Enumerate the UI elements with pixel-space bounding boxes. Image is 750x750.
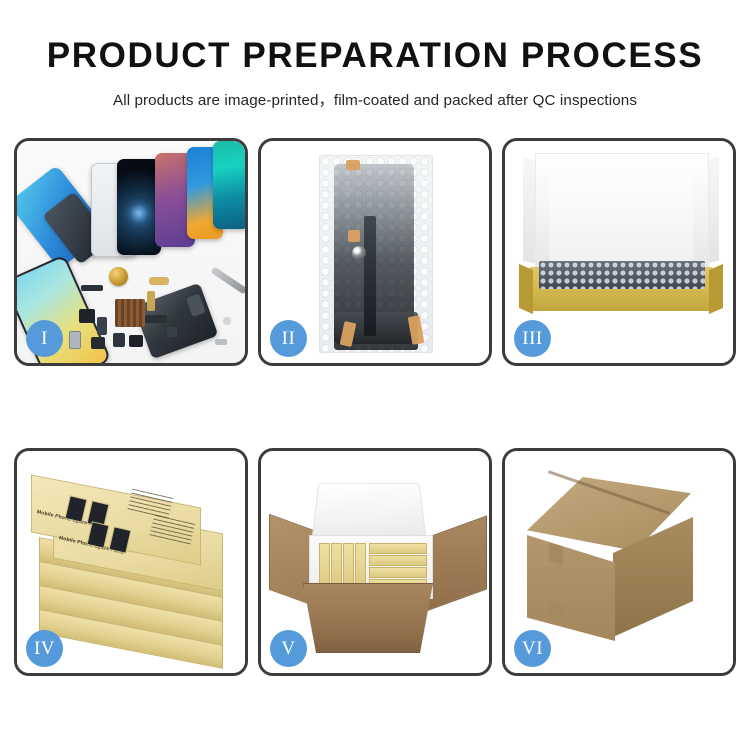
bubble-wrap-bag (319, 155, 433, 353)
step-badge-2: II (270, 320, 307, 357)
yellow-box (369, 567, 427, 578)
part-fragment (129, 335, 143, 347)
flex-cable-part (147, 291, 155, 311)
teal-gradient-phone (213, 141, 245, 229)
yellow-boxes-right-group (369, 543, 425, 589)
screw-part (223, 317, 231, 325)
process-step-grid: I II (14, 138, 736, 690)
page-title: PRODUCT PREPARATION PROCESS (0, 38, 750, 75)
header: PRODUCT PREPARATION PROCESS All products… (0, 0, 750, 110)
yellow-box (369, 555, 427, 566)
carton-tape-patch (549, 601, 563, 623)
process-step-2: II (258, 138, 492, 366)
tape-piece (346, 160, 360, 170)
part-fragment (91, 337, 105, 349)
part-fragment (167, 327, 177, 337)
part-fragment (97, 317, 107, 335)
part-fragment (79, 309, 95, 323)
part-fragment (81, 285, 103, 291)
step-badge-6: VI (514, 630, 551, 667)
speaker-coil-part (109, 267, 128, 286)
process-step-5: V (258, 448, 492, 676)
step-badge-5: V (270, 630, 307, 667)
yellow-box (369, 543, 427, 554)
part-fragment (145, 315, 167, 323)
foam-liner (549, 177, 693, 271)
step-badge-1: I (26, 320, 63, 357)
process-step-4: Mobile Phone Spare Parts Mobile Phone Sp… (14, 448, 248, 676)
process-step-6: VI (502, 448, 736, 676)
process-step-1: I (14, 138, 248, 366)
page-subtitle: All products are image-printed，film-coat… (0, 88, 750, 110)
process-step-3: III (502, 138, 736, 366)
flex-cable (364, 216, 376, 336)
carton-body (303, 583, 433, 653)
screw-part (215, 339, 227, 345)
connector-chip-grid (115, 299, 145, 327)
yellow-boxes-left-group (319, 543, 365, 589)
repair-tool (210, 266, 245, 294)
camera-lens (352, 246, 366, 260)
foam-box-lid (311, 483, 427, 543)
step-badge-3: III (514, 320, 551, 357)
flex-cable-part (149, 277, 169, 285)
carton-front-face (527, 535, 615, 641)
carton-tape-patch (549, 543, 563, 565)
sim-tray-part (69, 331, 81, 349)
product-preparation-process-page: PRODUCT PREPARATION PROCESS All products… (0, 0, 750, 750)
bubble-wrapped-contents (539, 261, 705, 289)
tape-piece (348, 230, 360, 242)
step-badge-4: IV (26, 630, 63, 667)
part-fragment (113, 333, 125, 347)
